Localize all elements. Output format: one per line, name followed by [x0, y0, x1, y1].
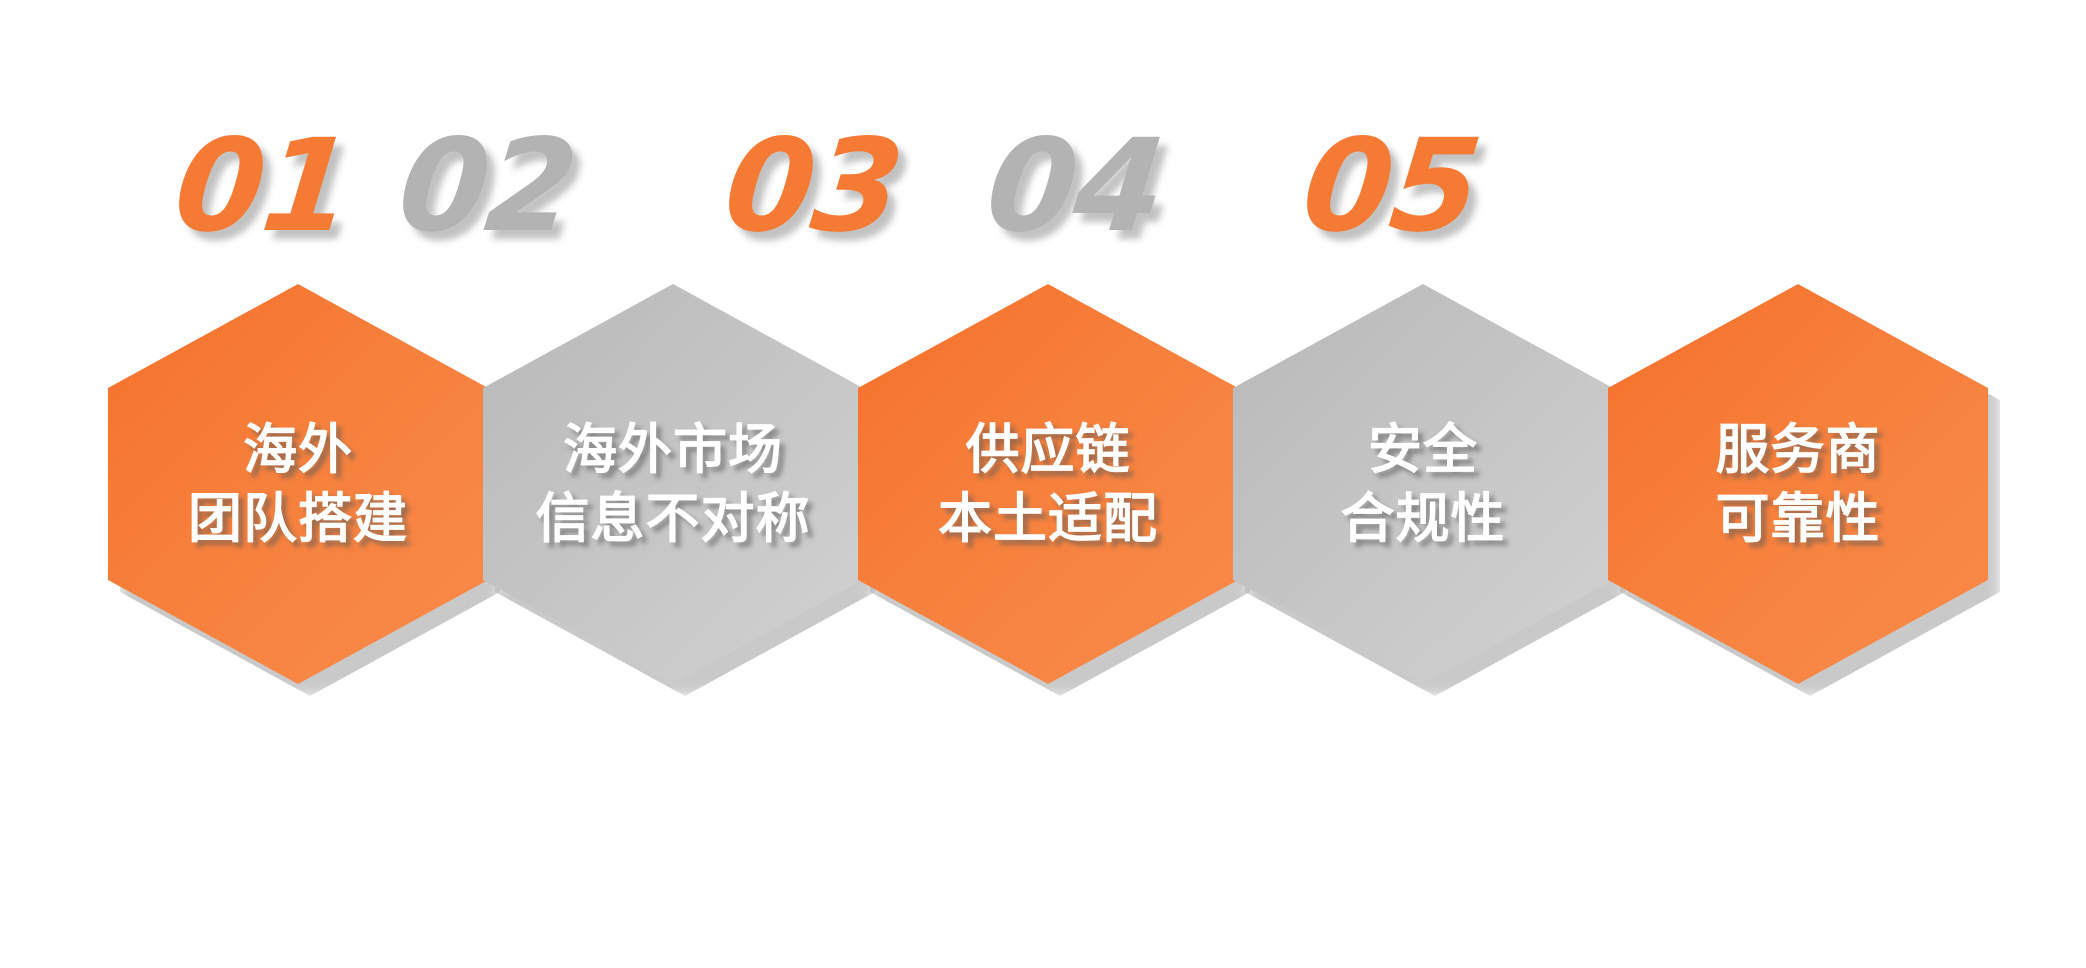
step-number-01: 01 [169, 123, 357, 251]
hexagon-label-line1: 海外 [243, 418, 353, 481]
step-number-05: 05 [1297, 123, 1485, 251]
hexagon-label-04: 安全合规性 [1341, 415, 1506, 553]
hexagon-label-line2: 信息不对称 [536, 484, 811, 553]
hexagon-label-line1: 海外市场 [563, 418, 783, 481]
hexagon-label-03: 供应链本土适配 [938, 415, 1158, 553]
infographic-canvas: 海外团队搭建海外市场信息不对称供应链本土适配安全合规性服务商可靠性 010203… [0, 0, 2086, 968]
step-number-04: 04 [981, 123, 1169, 251]
hexagon-label-02: 海外市场信息不对称 [536, 415, 811, 553]
step-number-03: 03 [719, 123, 907, 251]
hexagon-label-05: 服务商可靠性 [1716, 415, 1881, 553]
hexagon-label-line2: 本土适配 [938, 484, 1158, 553]
hexagon-label-line2: 合规性 [1341, 484, 1506, 553]
hexagon-label-line2: 团队搭建 [188, 484, 408, 553]
hexagon-label-line1: 服务商 [1716, 418, 1881, 481]
hexagon-label-01: 海外团队搭建 [188, 415, 408, 553]
hexagon-label-line2: 可靠性 [1716, 484, 1881, 553]
hexagon-label-line1: 安全 [1368, 418, 1478, 481]
hexagon-label-line1: 供应链 [966, 418, 1131, 481]
step-number-02: 02 [393, 123, 581, 251]
